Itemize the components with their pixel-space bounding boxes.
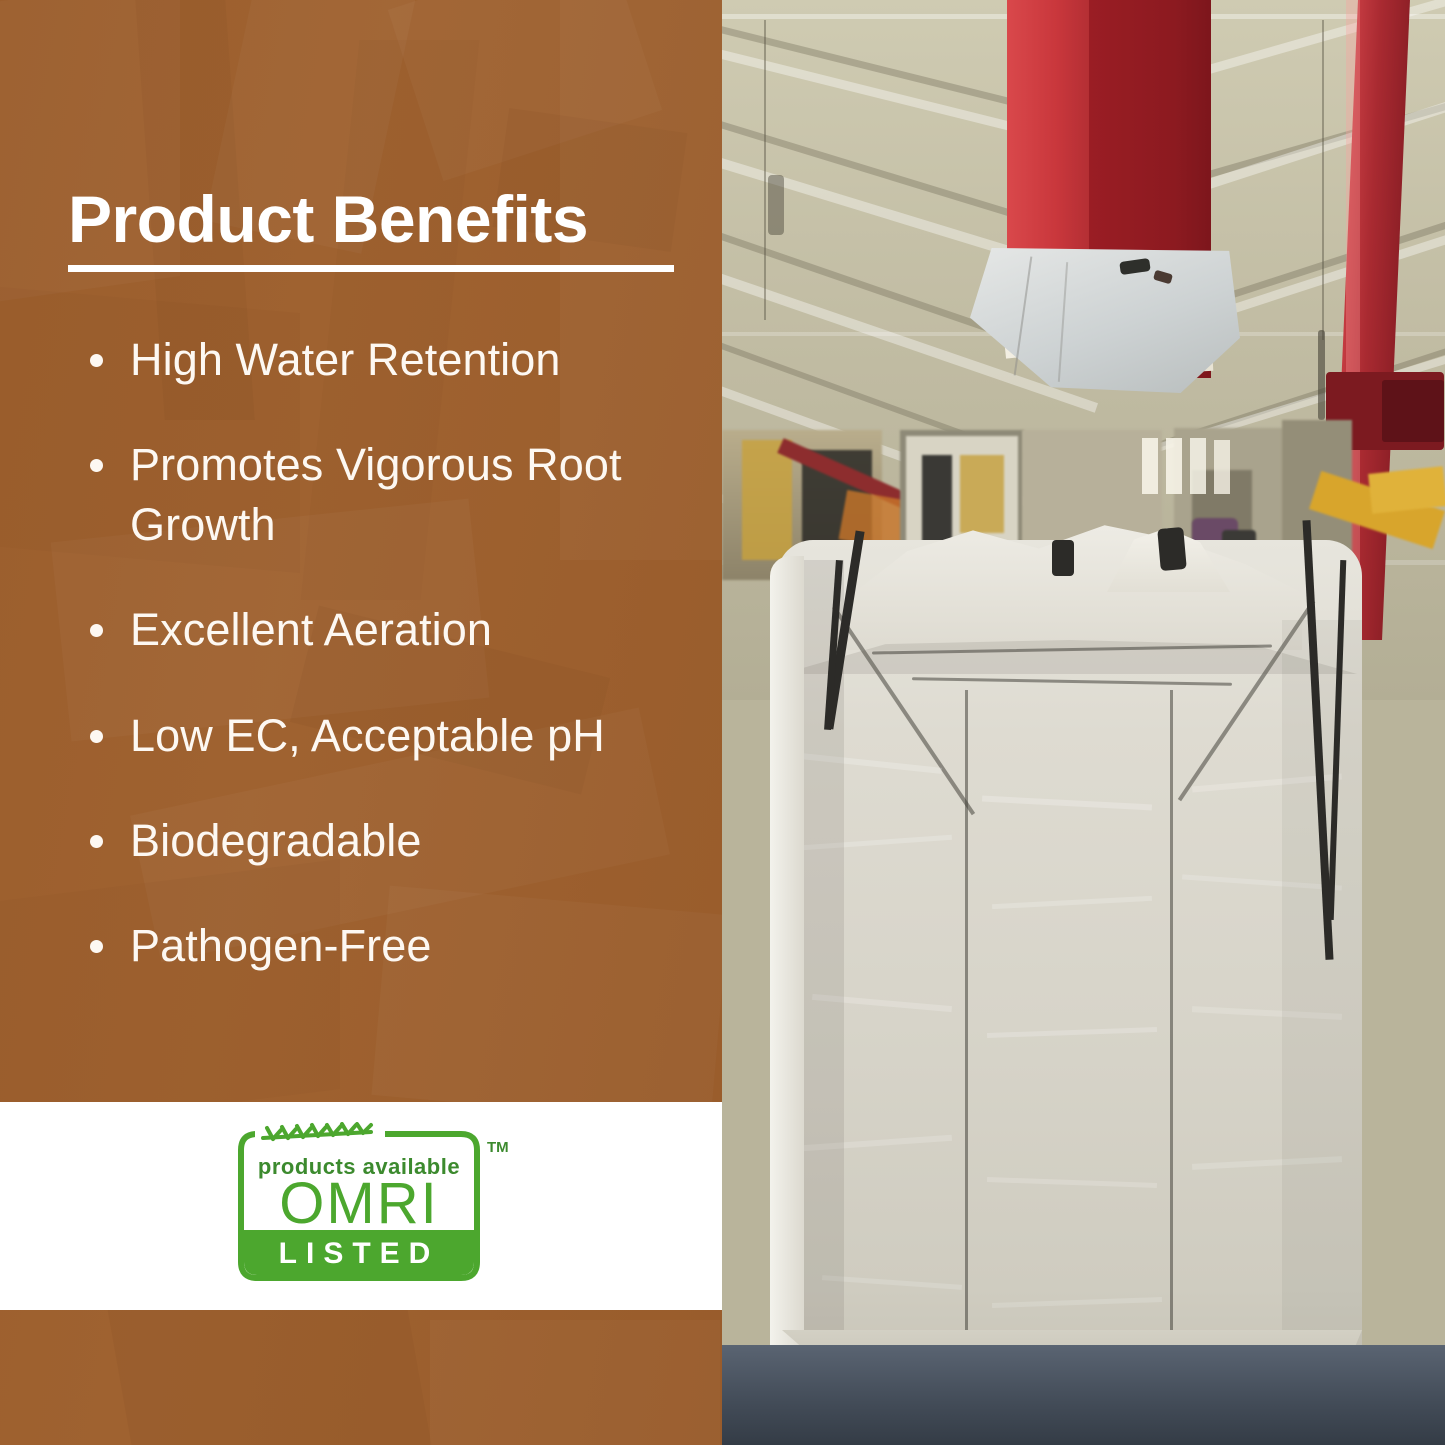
benefit-label: Low EC, Acceptable pH: [130, 710, 605, 761]
bullet-dot-icon: [90, 730, 103, 743]
bag-seam: [1170, 690, 1173, 1406]
floor: [722, 1345, 1445, 1445]
list-item: Biodegradable: [78, 811, 703, 870]
bullet-dot-icon: [90, 354, 103, 367]
svg-text:LISTED: LISTED: [279, 1237, 440, 1270]
certification-band: TM products available OMRI LISTED: [0, 1102, 722, 1310]
title-underline: [68, 265, 674, 272]
left-content-panel: Product Benefits High Water Retention Pr…: [0, 0, 722, 1445]
list-item: Pathogen-Free: [78, 916, 703, 975]
bullet-dot-icon: [90, 940, 103, 953]
benefit-label: Promotes Vigorous Root Growth: [130, 439, 622, 549]
page-title: Product Benefits: [68, 186, 688, 252]
bullet-dot-icon: [90, 835, 103, 848]
benefits-list: High Water Retention Promotes Vigorous R…: [78, 330, 703, 976]
product-benefits-poster: Product Benefits High Water Retention Pr…: [0, 0, 1445, 1445]
warehouse-bulk-bag-photo: [722, 0, 1445, 1445]
list-item: Excellent Aeration: [78, 600, 703, 659]
bag-seam: [965, 690, 968, 1410]
benefit-label: High Water Retention: [130, 334, 561, 385]
benefit-label: Pathogen-Free: [130, 920, 432, 971]
benefit-label: Excellent Aeration: [130, 604, 492, 655]
omri-listed-logo: TM products available OMRI LISTED: [211, 1122, 511, 1290]
svg-text:TM: TM: [487, 1139, 509, 1156]
benefit-label: Biodegradable: [130, 815, 422, 866]
omri-logo-graphic: TM products available OMRI LISTED: [211, 1122, 511, 1290]
bullet-dot-icon: [90, 624, 103, 637]
page-title-block: Product Benefits: [68, 186, 688, 272]
list-item: Low EC, Acceptable pH: [78, 706, 703, 765]
svg-text:OMRI: OMRI: [279, 1171, 438, 1236]
list-item: Promotes Vigorous Root Growth: [78, 435, 703, 554]
list-item: High Water Retention: [78, 330, 703, 389]
bullet-dot-icon: [90, 459, 103, 472]
